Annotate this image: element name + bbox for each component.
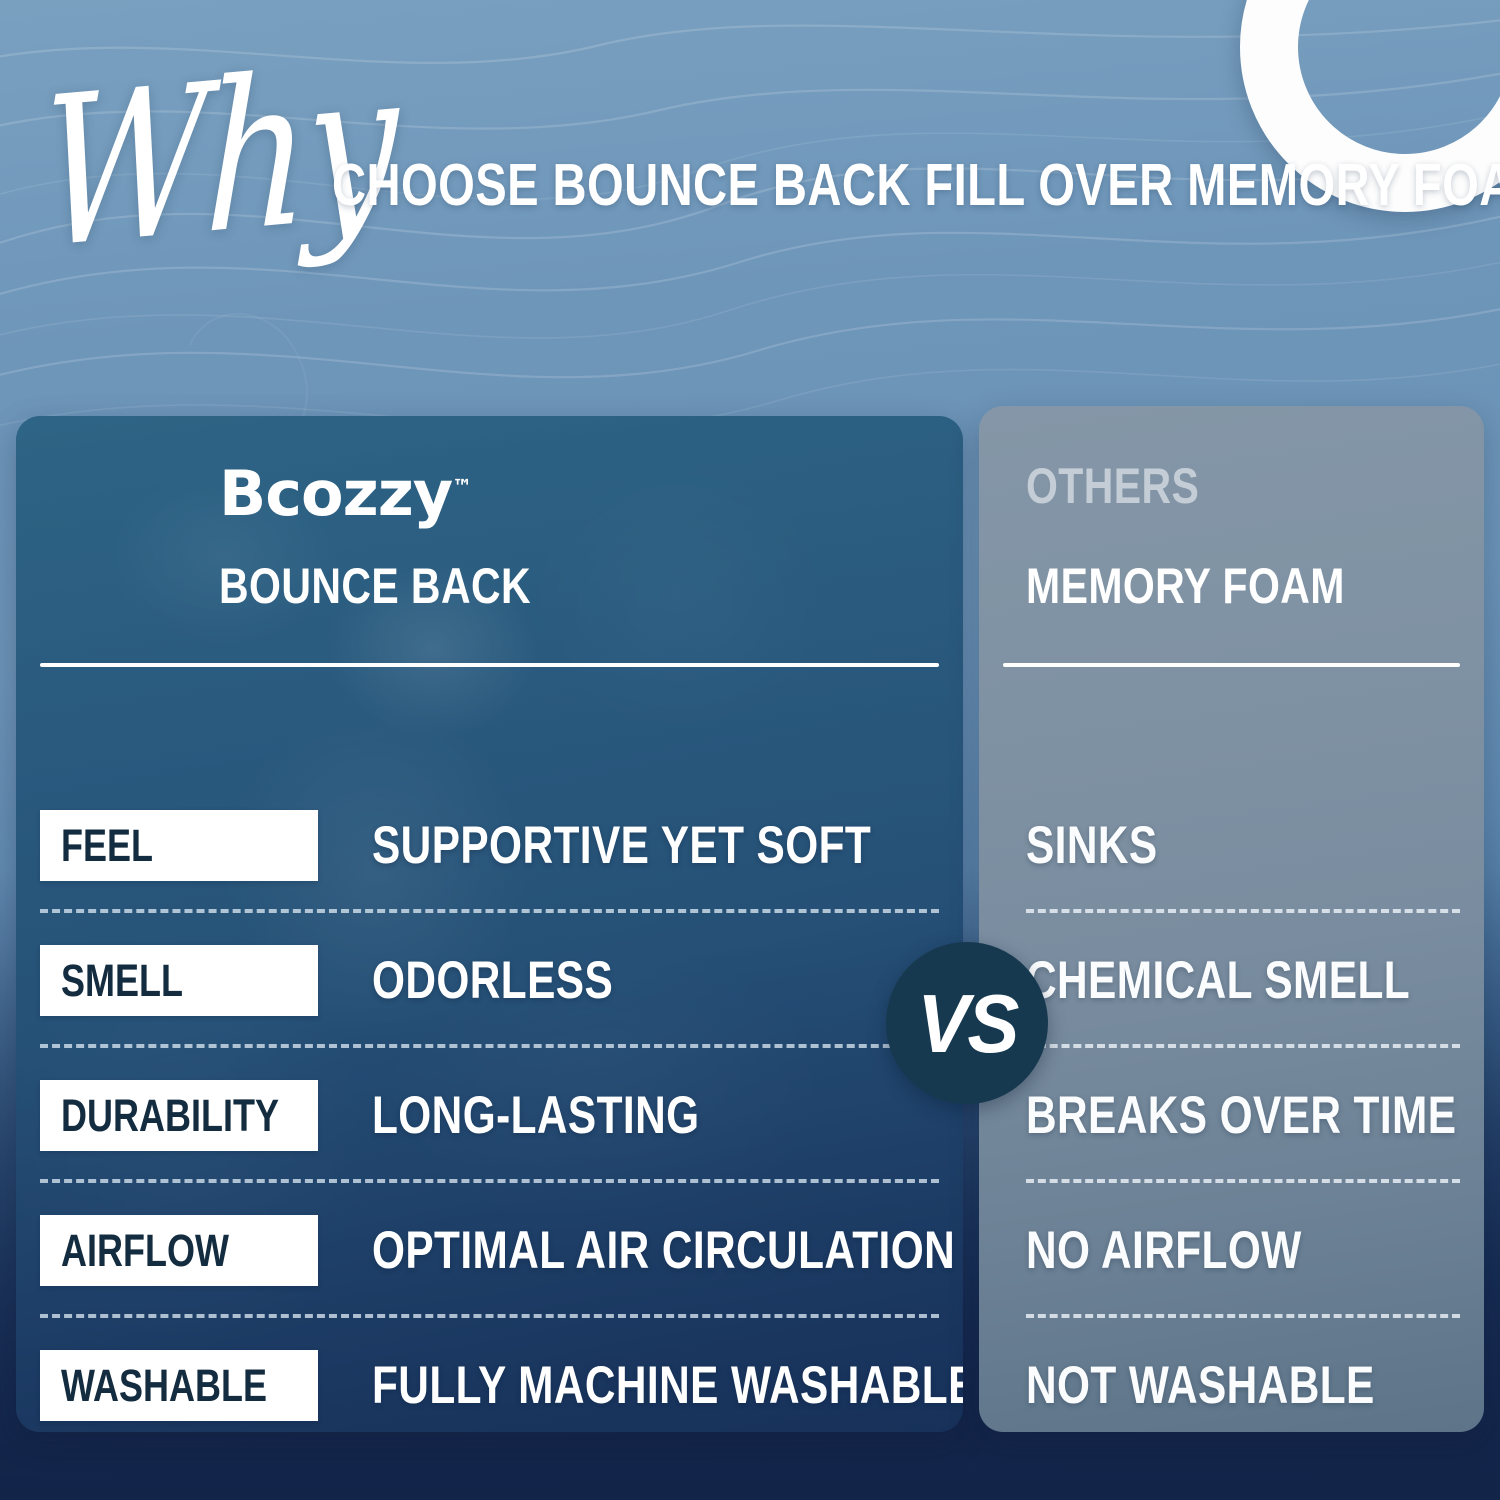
bcozzy-value: FULLY MACHINE WASHABLE [372,1359,963,1412]
vs-badge: VS [886,942,1048,1104]
feature-label-text: FEEL [61,823,153,868]
others-value: BREAKS OVER TIME [1026,1089,1456,1142]
bcozzy-panel: Bcozzy™ BOUNCE BACK FEEL SUPPORTIVE YET … [16,416,963,1432]
bcozzy-rows: FEEL SUPPORTIVE YET SOFT SMELL ODORLESS [40,778,939,1432]
feature-label-text: WASHABLE [61,1363,267,1408]
trademark-symbol: ™ [452,474,472,498]
table-row: CHEMICAL SMELL [1026,913,1460,1048]
table-row: BREAKS OVER TIME [1026,1048,1460,1183]
feature-label-chip: DURABILITY [40,1080,318,1151]
feature-label-chip: AIRFLOW [40,1215,318,1286]
bcozzy-value: LONG-LASTING [372,1089,699,1142]
others-panel-title: OTHERS [1026,461,1199,511]
feature-label-text: SMELL [61,958,183,1003]
feature-label-chip: FEEL [40,810,318,881]
table-row: WASHABLE FULLY MACHINE WASHABLE [40,1318,939,1432]
table-row: SMELL ODORLESS [40,913,939,1048]
feature-label-chip: WASHABLE [40,1350,318,1421]
comparison-table: Bcozzy™ BOUNCE BACK FEEL SUPPORTIVE YET … [0,0,1500,1500]
feature-label-chip: SMELL [40,945,318,1016]
others-panel: OTHERS MEMORY FOAM SINKS CHEMICAL SMELL [979,406,1484,1432]
others-rows: SINKS CHEMICAL SMELL BREAKS OVER TIME [1026,778,1460,1432]
others-value: NOT WASHABLE [1026,1359,1375,1412]
bcozzy-logo-text: Bcozzy [219,457,452,530]
table-row: NOT WASHABLE [1026,1318,1460,1432]
others-value: SINKS [1026,819,1158,872]
others-value: CHEMICAL SMELL [1026,954,1410,1007]
bcozzy-value: SUPPORTIVE YET SOFT [372,819,871,872]
table-row: DURABILITY LONG-LASTING [40,1048,939,1183]
bcozzy-value: OPTIMAL AIR CIRCULATION [372,1224,955,1277]
bcozzy-logo: Bcozzy™ [219,463,472,525]
others-header-rule [1003,663,1460,667]
others-value: NO AIRFLOW [1026,1224,1302,1277]
others-panel-subtitle: MEMORY FOAM [1026,561,1345,611]
bcozzy-panel-subtitle: BOUNCE BACK [219,561,531,611]
table-row: SINKS [1026,778,1460,913]
table-row: NO AIRFLOW [1026,1183,1460,1318]
vs-badge-label: VS [917,982,1017,1065]
bcozzy-value: ODORLESS [372,954,613,1007]
feature-label-text: AIRFLOW [61,1228,229,1273]
bcozzy-header-rule [40,663,939,667]
feature-label-text: DURABILITY [61,1093,279,1138]
table-row: AIRFLOW OPTIMAL AIR CIRCULATION [40,1183,939,1318]
table-row: FEEL SUPPORTIVE YET SOFT [40,778,939,913]
